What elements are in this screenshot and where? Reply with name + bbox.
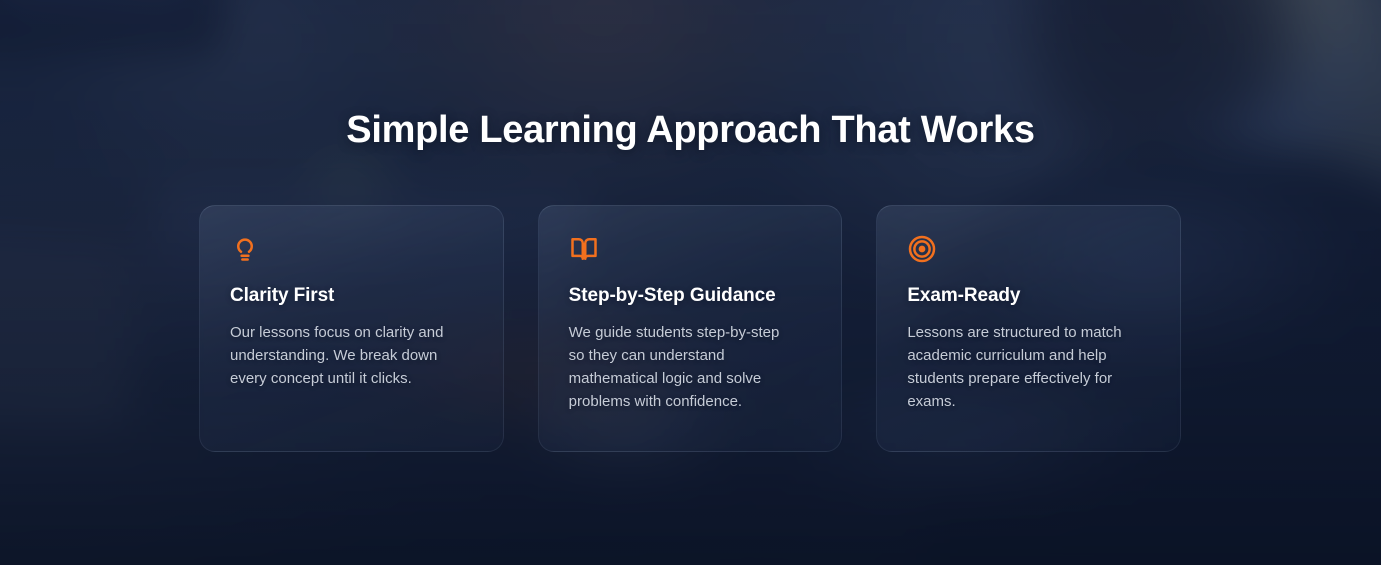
feature-card-description: Lessons are structured to match academic… [907,321,1137,413]
open-book-icon [569,234,599,264]
lightbulb-icon [230,234,260,264]
feature-card-clarity-first[interactable]: Clarity First Our lessons focus on clari… [199,205,504,452]
feature-card-list: Clarity First Our lessons focus on clari… [199,205,1181,452]
feature-card-step-by-step-guidance[interactable]: Step-by-Step Guidance We guide students … [538,205,843,452]
feature-card-title: Clarity First [230,285,473,307]
feature-card-description: We guide students step-by-step so they c… [569,321,799,413]
feature-card-title: Step-by-Step Guidance [569,285,812,307]
section-heading: Simple Learning Approach That Works [0,109,1381,152]
feature-card-description: Our lessons focus on clarity and underst… [230,321,460,390]
feature-card-title: Exam-Ready [907,285,1150,307]
target-icon [907,234,937,264]
section-content: Simple Learning Approach That Works Clar… [0,0,1381,565]
page-stage: Simple Learning Approach That Works Clar… [0,0,1381,565]
feature-card-exam-ready[interactable]: Exam-Ready Lessons are structured to mat… [876,205,1181,452]
